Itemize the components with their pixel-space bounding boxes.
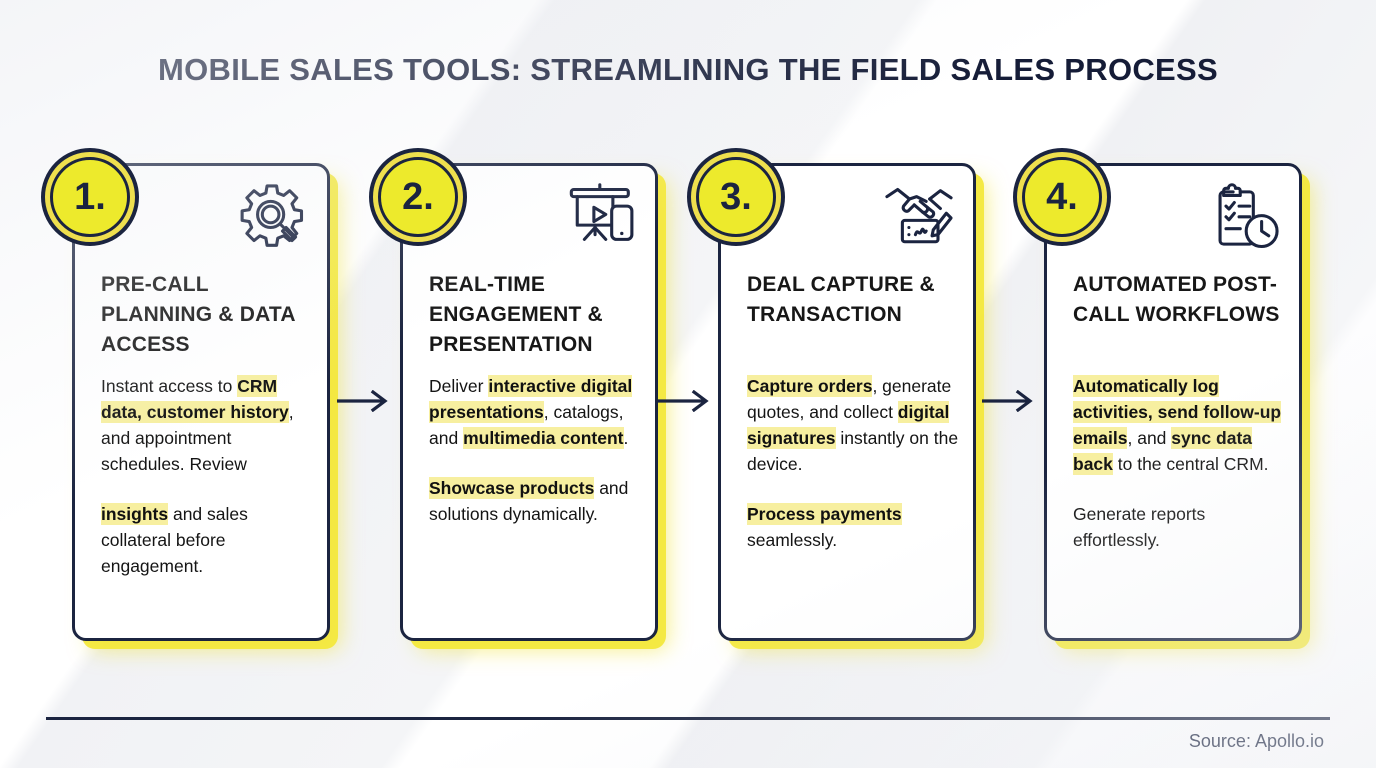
step-number-badge-3: 3. bbox=[687, 148, 785, 246]
arrow-2-to-3-icon bbox=[658, 390, 714, 412]
step-number-badge-4: 4. bbox=[1013, 148, 1111, 246]
step-card-3: 3. DEAL CAPTURE & TRANSACTION Capture or… bbox=[718, 163, 976, 641]
body-paragraph: Automatically log activities, send follo… bbox=[1073, 373, 1285, 477]
step-body-1: Instant access to CRM data, customer his… bbox=[101, 373, 313, 579]
gear-magnifier-icon bbox=[235, 180, 311, 256]
highlighted-text: insights bbox=[101, 503, 168, 525]
body-text: Instant access to bbox=[101, 376, 237, 396]
body-paragraph: Instant access to CRM data, customer his… bbox=[101, 373, 313, 477]
handshake-signature-icon bbox=[881, 180, 957, 256]
body-text: Deliver bbox=[429, 376, 488, 396]
body-text: . bbox=[624, 428, 629, 448]
body-paragraph: Capture orders, generate quotes, and col… bbox=[747, 373, 959, 477]
step-card-1: 1. PRE-CALL PLANNING & DATA ACCESS Insta… bbox=[72, 163, 330, 641]
step-card-4: 4. AUTOMATED POST-CALL WORKFLOWS Automat… bbox=[1044, 163, 1302, 641]
step-body-2: Deliver interactive digital presentation… bbox=[429, 373, 641, 527]
step-body-3: Capture orders, generate quotes, and col… bbox=[747, 373, 959, 553]
body-paragraph: Generate reports effortlessly. bbox=[1073, 501, 1285, 553]
step-heading-3: DEAL CAPTURE & TRANSACTION bbox=[747, 270, 955, 330]
page-title: MOBILE SALES TOOLS: STREAMLINING THE FIE… bbox=[0, 52, 1376, 88]
body-text: to the central CRM. bbox=[1113, 454, 1269, 474]
step-number-label: 4. bbox=[1046, 178, 1078, 216]
highlighted-text: Process payments bbox=[747, 503, 902, 525]
infographic-canvas: MOBILE SALES TOOLS: STREAMLINING THE FIE… bbox=[0, 0, 1376, 768]
step-card-2: 2. REAL-TIME ENGAGEMENT & PRESENTATION D… bbox=[400, 163, 658, 641]
body-paragraph: Showcase products and solutions dynamica… bbox=[429, 475, 641, 527]
step-heading-2: REAL-TIME ENGAGEMENT & PRESENTATION bbox=[429, 270, 637, 359]
step-number-label: 2. bbox=[402, 178, 434, 216]
arrow-3-to-4-icon bbox=[982, 390, 1038, 412]
body-text: Generate reports effortlessly. bbox=[1073, 504, 1205, 550]
step-heading-4: AUTOMATED POST-CALL WORKFLOWS bbox=[1073, 270, 1281, 330]
step-number-badge-2: 2. bbox=[369, 148, 467, 246]
highlighted-text: Capture orders bbox=[747, 375, 872, 397]
arrow-1-to-2-icon bbox=[337, 390, 393, 412]
body-paragraph: Process payments seamlessly. bbox=[747, 501, 959, 553]
step-heading-1: PRE-CALL PLANNING & DATA ACCESS bbox=[101, 270, 309, 359]
clipboard-clock-icon bbox=[1207, 180, 1283, 256]
highlighted-text: multimedia content bbox=[463, 427, 623, 449]
step-number-label: 3. bbox=[720, 178, 752, 216]
footer-divider bbox=[46, 717, 1330, 720]
body-paragraph: Deliver interactive digital presentation… bbox=[429, 373, 641, 451]
body-paragraph: insights and sales collateral before eng… bbox=[101, 501, 313, 579]
source-label: Source: Apollo.io bbox=[1189, 731, 1324, 752]
step-number-label: 1. bbox=[74, 178, 106, 216]
body-text: seamlessly. bbox=[747, 530, 837, 550]
step-number-badge-1: 1. bbox=[41, 148, 139, 246]
projector-mobile-icon bbox=[563, 180, 639, 256]
step-body-4: Automatically log activities, send follo… bbox=[1073, 373, 1285, 553]
highlighted-text: Showcase products bbox=[429, 477, 594, 499]
body-text: , and bbox=[1127, 428, 1171, 448]
